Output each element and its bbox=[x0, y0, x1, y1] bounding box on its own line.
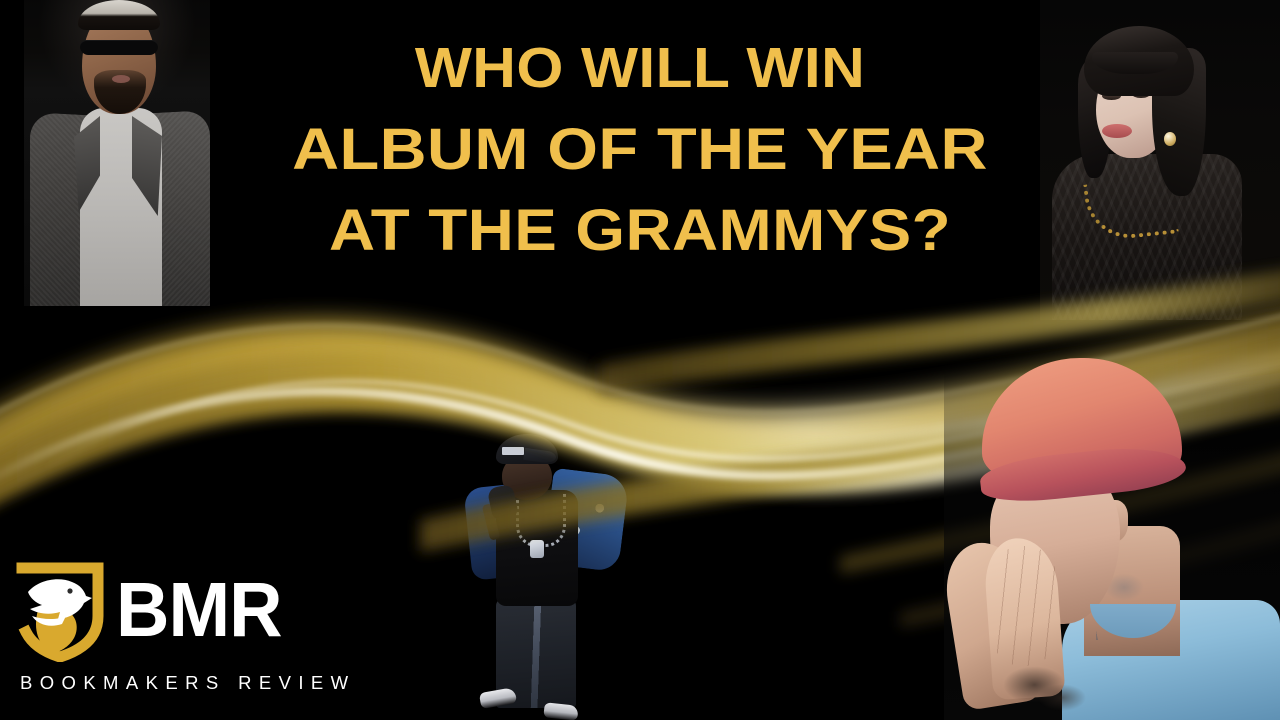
logo-tagline: BOOKMAKERS REVIEW bbox=[20, 672, 356, 694]
shield-eagle-icon bbox=[14, 558, 110, 662]
cap-logo bbox=[502, 447, 524, 455]
artist-photo-bottom-right bbox=[944, 356, 1280, 720]
chain-pendant bbox=[530, 540, 544, 558]
artist-photo-top-left bbox=[24, 0, 210, 306]
earring-icon bbox=[1164, 132, 1176, 146]
lips bbox=[112, 75, 130, 83]
finger-detail bbox=[992, 546, 1056, 666]
promo-graphic: WHO WILL WIN ALBUM OF THE YEAR AT THE GR… bbox=[0, 0, 1280, 720]
logo-wordmark: BMR bbox=[116, 572, 282, 649]
lips bbox=[1102, 124, 1132, 138]
sunglasses-icon bbox=[80, 40, 158, 55]
arm-tattoo bbox=[1000, 656, 1086, 720]
bmr-logo[interactable]: BMR BOOKMAKERS REVIEW bbox=[14, 558, 356, 694]
artist-photo-top-right bbox=[1040, 0, 1280, 320]
artist-photo-bottom-center bbox=[452, 428, 632, 720]
logo-primary-row: BMR bbox=[14, 558, 282, 662]
